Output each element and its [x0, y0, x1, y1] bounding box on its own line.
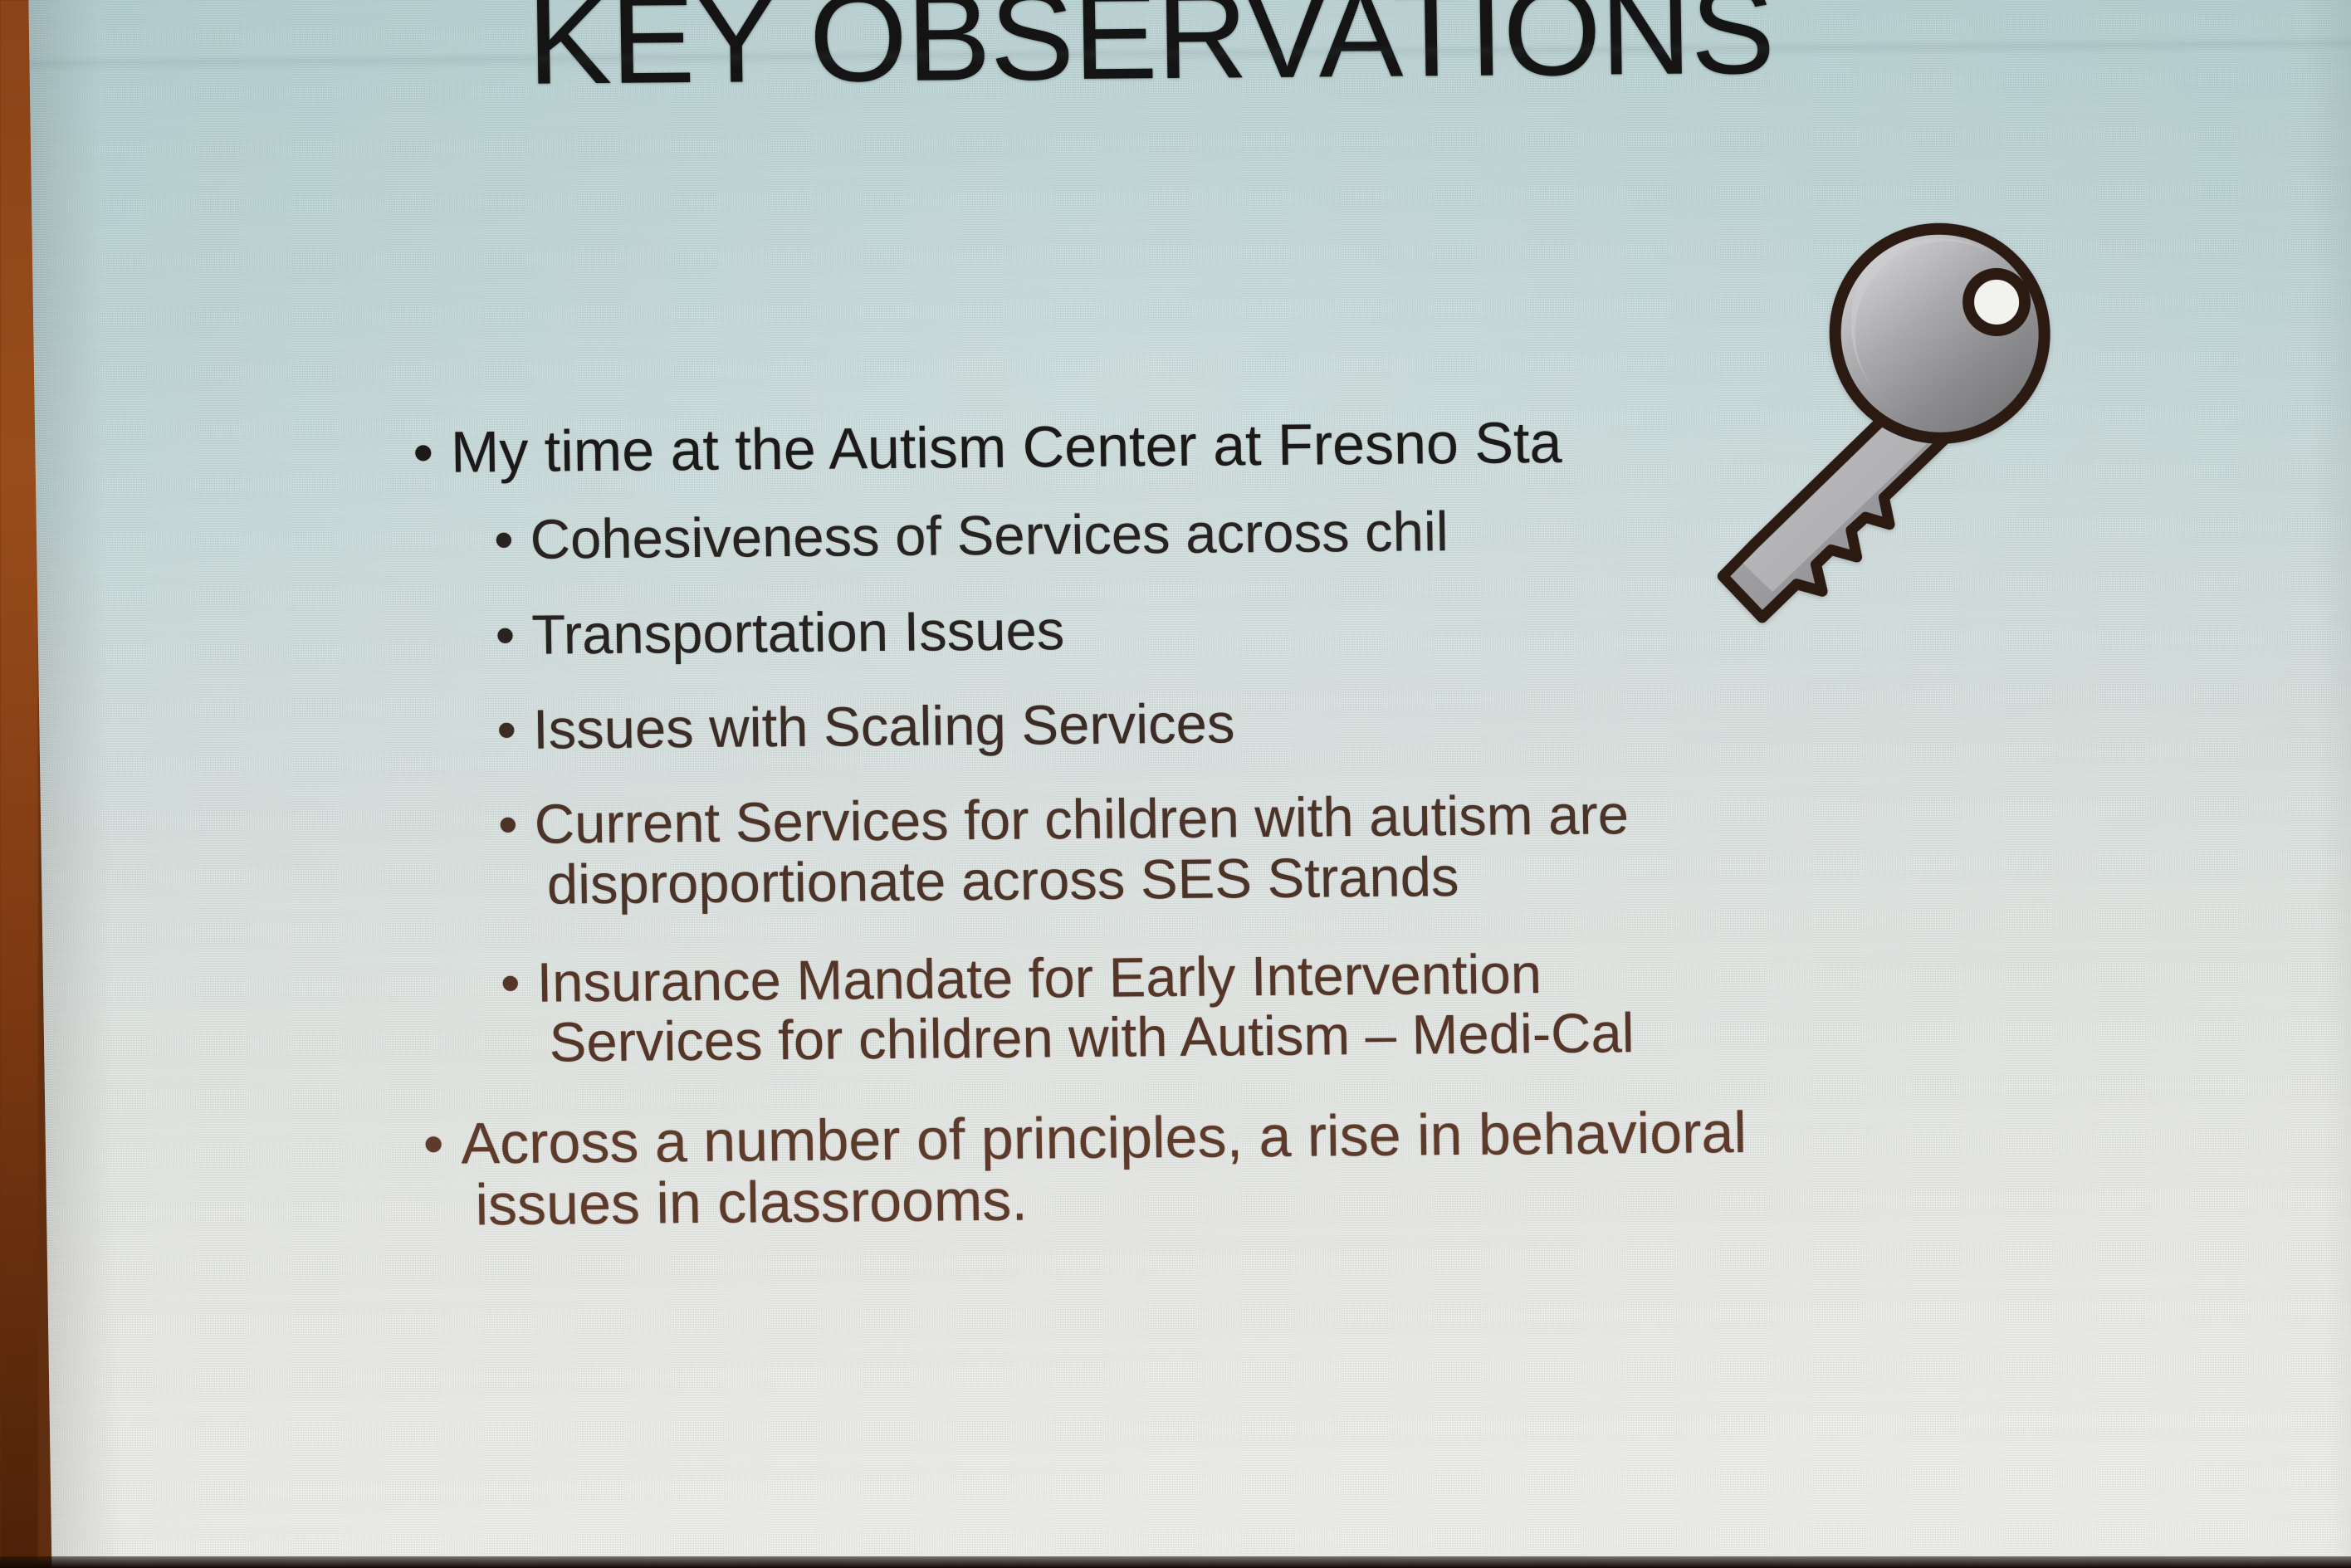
list-item-line: Current Services for children with autis… — [534, 784, 1629, 855]
projection-screen: KEY OBSERVATIONS • My time at the Autism… — [28, 0, 2351, 1568]
list-item-text: Issues with Scaling Services — [533, 694, 1235, 760]
list-item-line: Insurance Mandate for Early Intervention — [536, 943, 1542, 1014]
list-item-line: Issues with Scaling Services — [533, 692, 1235, 760]
bullet-dot-icon: • — [494, 512, 531, 568]
slide-content: KEY OBSERVATIONS • My time at the Autism… — [28, 0, 2351, 1568]
wall-bottom-strip — [0, 1556, 2351, 1568]
projector-photo-frame: KEY OBSERVATIONS • My time at the Autism… — [0, 0, 2351, 1568]
bullet-dot-icon: • — [495, 607, 532, 662]
list-item: • Insurance Mandate for Early Interventi… — [501, 939, 2216, 1074]
presentation-slide: KEY OBSERVATIONS • My time at the Autism… — [28, 0, 2351, 1568]
bullet-dot-icon: • — [413, 423, 452, 481]
bullet-dot-icon: • — [501, 955, 538, 1011]
list-item-text: My time at the Autism Center at Fresno S… — [451, 412, 1562, 483]
bullet-dot-icon: • — [423, 1114, 462, 1172]
key-icon — [1672, 210, 2092, 649]
list-item-text: Insurance Mandate for Early Intervention… — [536, 944, 1635, 1073]
list-item-line: Transportation Issues — [531, 599, 1065, 667]
list-item: • Issues with Scaling Services — [496, 686, 2211, 760]
slide-title: KEY OBSERVATIONS — [526, 0, 1775, 104]
list-item: • Across a number of principles, a rise … — [423, 1097, 2217, 1236]
list-item-line: Cohesiveness of Services across chil — [530, 501, 1449, 571]
list-item-line: issues in classrooms. — [475, 1163, 1748, 1236]
key-bow — [1834, 227, 2046, 440]
list-item-line: disproportionate across SES Strands — [546, 846, 1630, 916]
list-item: • Current Services for children with aut… — [498, 780, 2213, 916]
list-item-text: Cohesiveness of Services across chil — [530, 502, 1449, 570]
list-item-line: Across a number of principles, a rise in… — [461, 1100, 1747, 1176]
list-item-text: Across a number of principles, a rise in… — [461, 1102, 1748, 1236]
list-item-line: Services for children with Autism – Medi… — [549, 1004, 1635, 1073]
bullet-dot-icon: • — [498, 797, 535, 852]
list-item-text: Current Services for children with autis… — [534, 785, 1630, 915]
bullet-dot-icon: • — [496, 702, 534, 758]
list-item-text: Transportation Issues — [531, 601, 1065, 666]
key-hole — [1968, 273, 2026, 330]
list-item-line: My time at the Autism Center at Fresno S… — [450, 410, 1562, 485]
